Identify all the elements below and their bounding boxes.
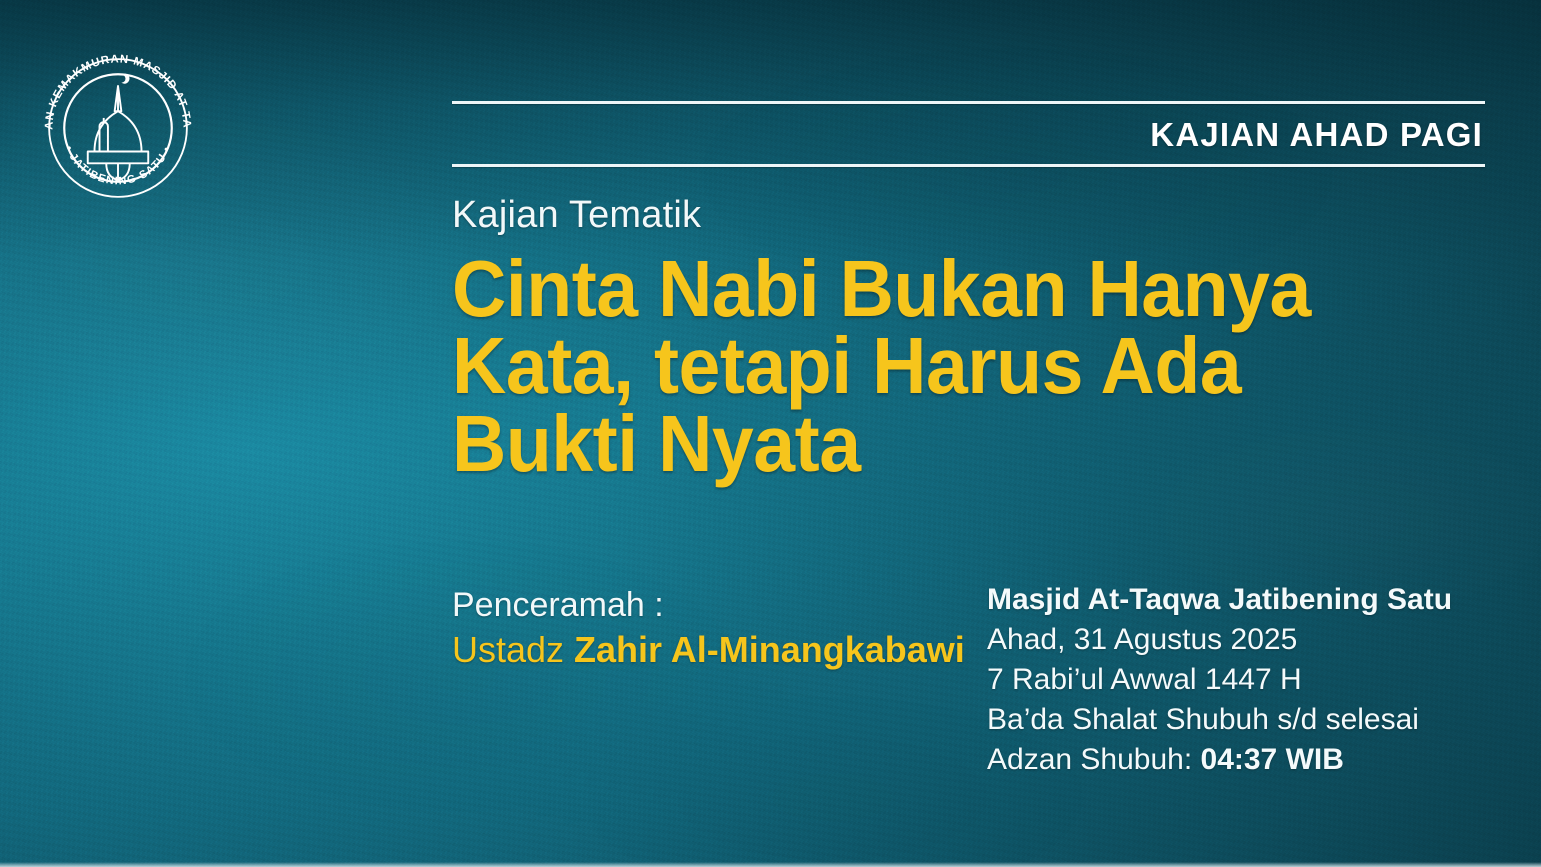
logo-arc-top-text: DEWAN KEMAKMURAN MASJID AT-TAQWA: [34, 44, 193, 130]
speaker-label: Penceramah :: [452, 584, 965, 628]
organization-logo: DEWAN KEMAKMURAN MASJID AT-TAQWA • JATIB…: [34, 44, 202, 212]
speaker-name: Ustadz Zahir Al-Minangkabawi: [452, 628, 965, 672]
adzan-time: 04:37 WIB: [1201, 743, 1344, 776]
header-label: KAJIAN AHAD PAGI: [452, 104, 1485, 164]
mosque-emblem-icon: [88, 74, 148, 180]
header-rule-bottom: [452, 164, 1485, 167]
title-line-3: Bukti Nyata: [452, 405, 1425, 483]
title-line-1: Cinta Nabi Bukan Hanya: [452, 250, 1425, 328]
main-content: Kajian Tematik Cinta Nabi Bukan Hanya Ka…: [452, 196, 1487, 483]
kajian-poster: DEWAN KEMAKMURAN MASJID AT-TAQWA • JATIB…: [0, 0, 1541, 867]
speaker-block: Penceramah : Ustadz Zahir Al-Minangkabaw…: [452, 580, 965, 671]
venue-name: Masjid At-Taqwa Jatibening Satu: [987, 580, 1487, 620]
background-bottom-edge: [0, 862, 1541, 867]
event-details-block: Masjid At-Taqwa Jatibening Satu Ahad, 31…: [987, 580, 1487, 779]
event-title: Cinta Nabi Bukan Hanya Kata, tetapi Haru…: [452, 250, 1425, 483]
time-note: Ba’da Shalat Shubuh s/d selesai: [987, 700, 1487, 740]
header-band: KAJIAN AHAD PAGI: [452, 101, 1485, 167]
speaker-name-value: Zahir Al-Minangkabawi: [574, 629, 965, 670]
mosque-seal-icon: DEWAN KEMAKMURAN MASJID AT-TAQWA • JATIB…: [34, 44, 202, 212]
adzan-row: Adzan Shubuh: 04:37 WIB: [987, 740, 1487, 780]
kicker-label: Kajian Tematik: [452, 196, 1487, 236]
adzan-label: Adzan Shubuh:: [987, 743, 1201, 776]
speaker-name-prefix: Ustadz: [452, 629, 574, 670]
date-gregorian: Ahad, 31 Agustus 2025: [987, 620, 1487, 660]
title-line-2: Kata, tetapi Harus Ada: [452, 327, 1425, 405]
date-hijri: 7 Rabi’ul Awwal 1447 H: [987, 660, 1487, 700]
lower-info-row: Penceramah : Ustadz Zahir Al-Minangkabaw…: [452, 580, 1487, 779]
